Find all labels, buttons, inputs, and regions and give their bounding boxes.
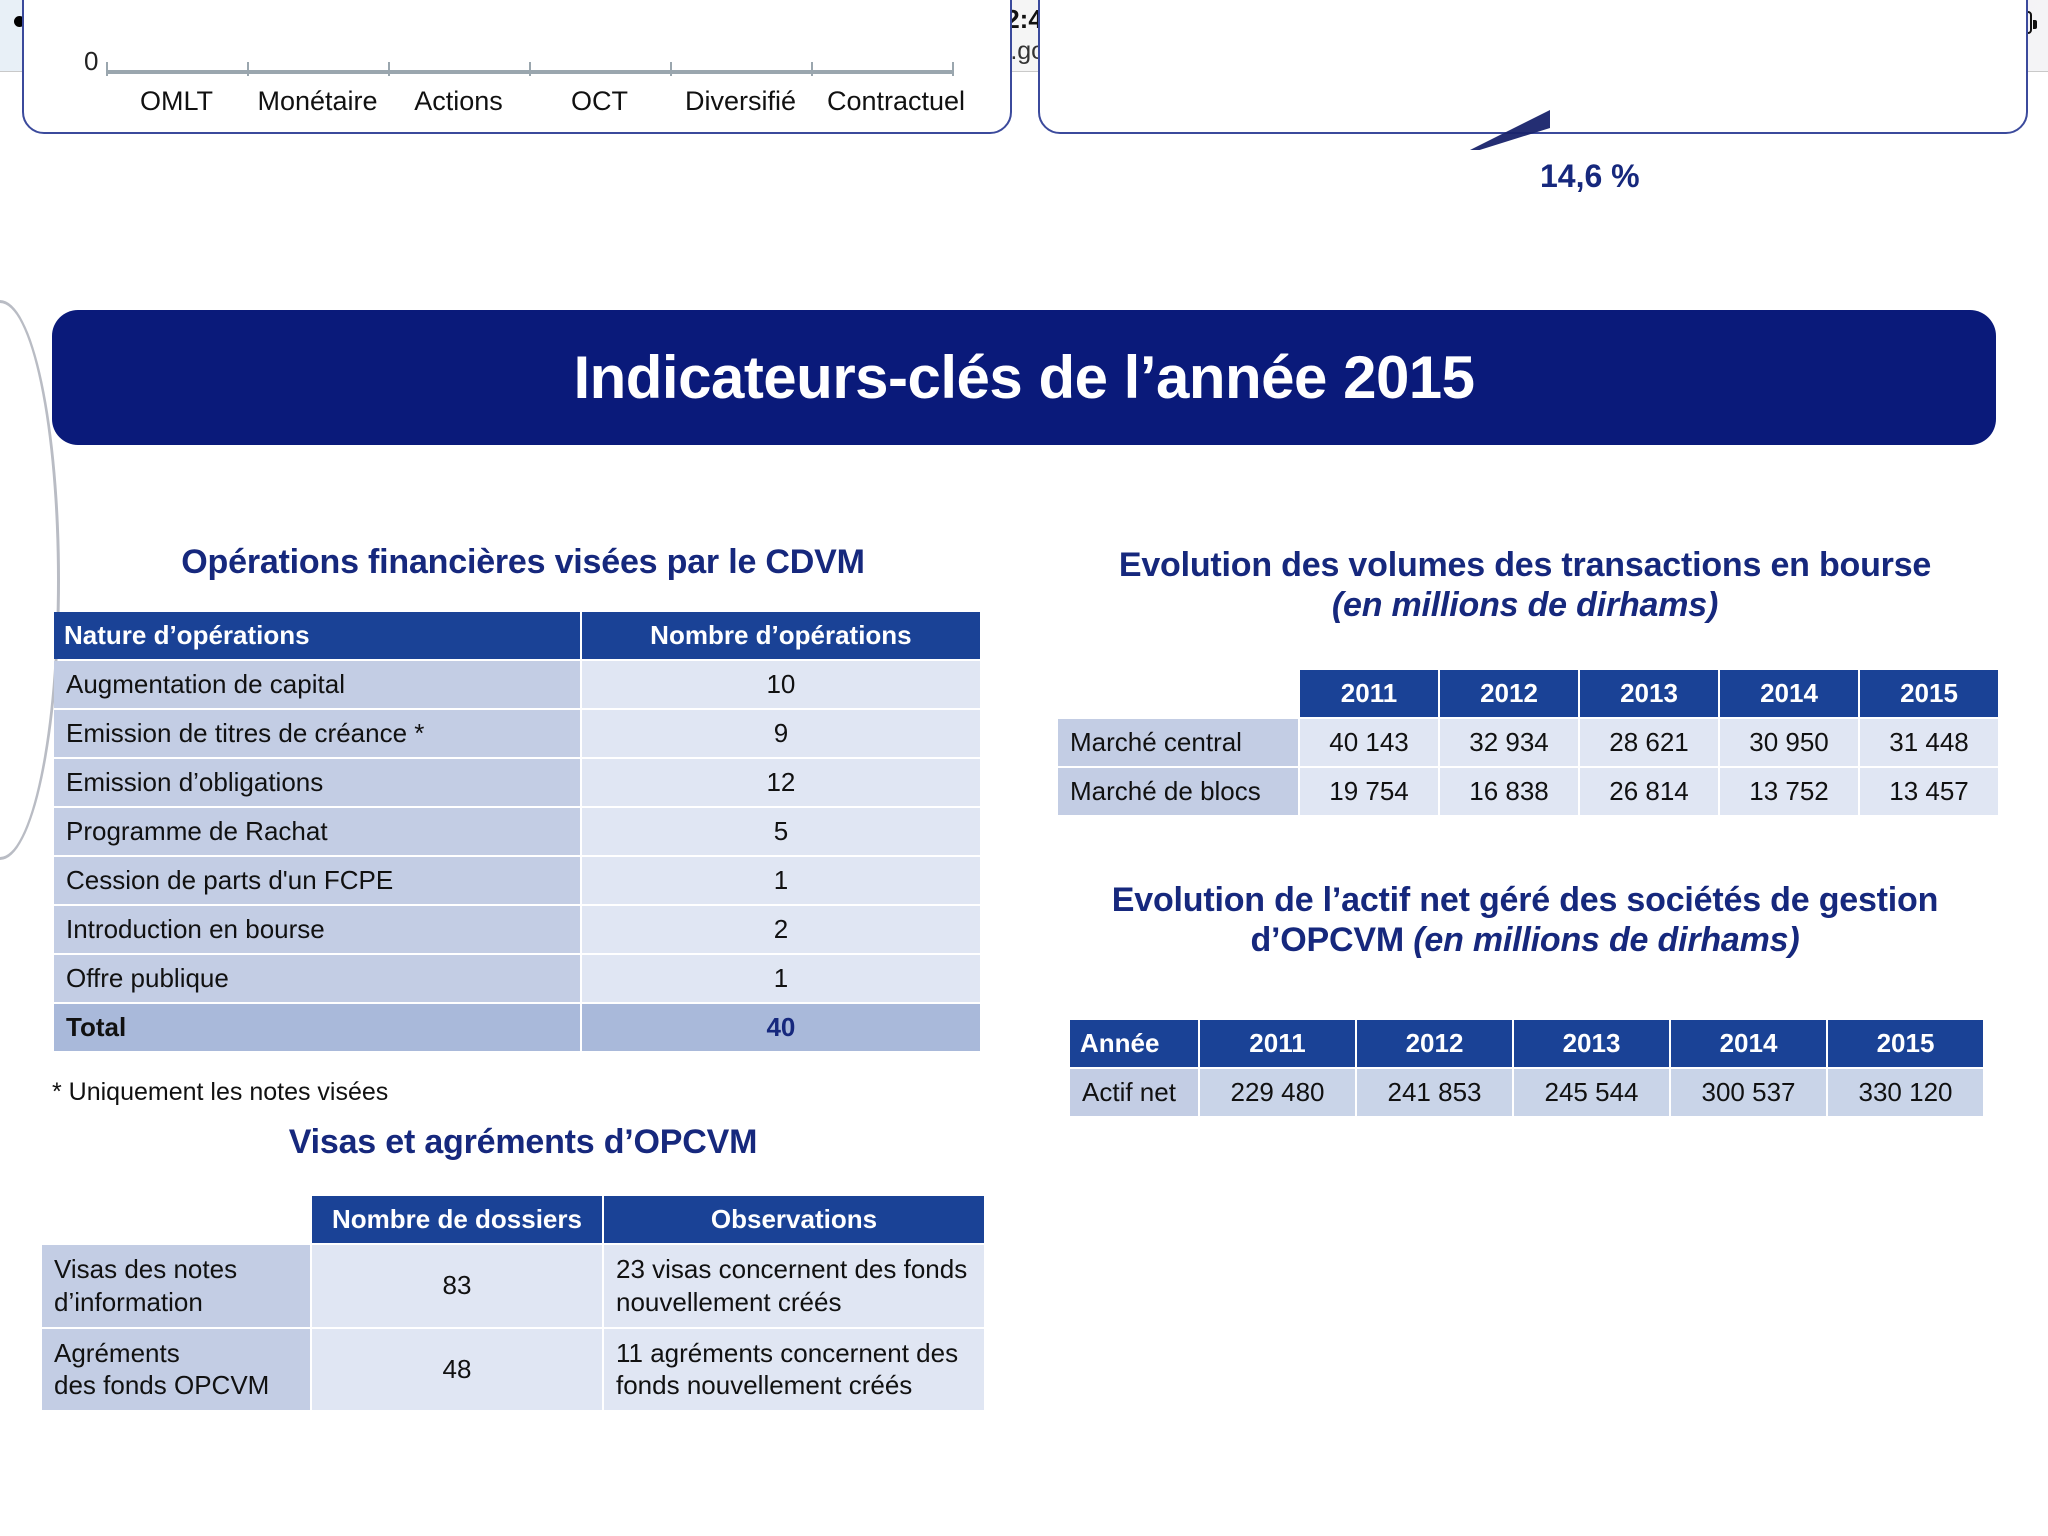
total-label: Total — [54, 1004, 580, 1051]
chart-category-label: Monétaire — [247, 86, 388, 117]
row-value: 300 537 — [1671, 1069, 1826, 1116]
row-value: 16 838 — [1440, 768, 1578, 815]
page-title-banner: Indicateurs-clés de l’année 2015 — [52, 310, 1996, 445]
actif-net-title-bold: d’OPCVM — [1250, 921, 1404, 959]
table-header-row: Nombre de dossiers Observations — [42, 1196, 984, 1243]
col-header-2014: 2014 — [1671, 1020, 1826, 1067]
actif-net-title-italic: (en millions de dirhams) — [1413, 921, 1799, 959]
table-row: Marché de blocs 19 754 16 838 26 814 13 … — [1058, 768, 1998, 815]
row-label: Offre publique — [54, 955, 580, 1002]
col-header-blank — [42, 1196, 310, 1243]
row-value: 241 853 — [1357, 1069, 1512, 1116]
row-label: Emission d’obligations — [54, 759, 580, 806]
table-row: Visas des notes d’information 83 23 visa… — [42, 1245, 984, 1327]
observation-line2: nouvellement créés — [616, 1286, 972, 1319]
col-header-nature: Nature d’opérations — [54, 612, 580, 659]
table-header-row: Année 2011 2012 2013 2014 2015 — [1070, 1020, 1983, 1067]
observation-line1: 23 visas concernent des fonds — [616, 1253, 972, 1286]
visas-table: Nombre de dossiers Observations Visas de… — [40, 1194, 986, 1412]
col-header-2013: 2013 — [1580, 670, 1718, 717]
row-value: 19 754 — [1300, 768, 1438, 815]
col-header-2011: 2011 — [1200, 1020, 1355, 1067]
row-value: 5 — [582, 808, 980, 855]
transactions-table: 2011 2012 2013 2014 2015 Marché central … — [1056, 668, 2000, 817]
col-header-count: Nombre d’opérations — [582, 612, 980, 659]
axis-tick — [952, 62, 954, 76]
total-value: 40 — [582, 1004, 980, 1051]
axis-tick — [670, 62, 672, 76]
chart-category-label: Actions — [388, 86, 529, 117]
table-row: Actif net 229 480 241 853 245 544 300 53… — [1070, 1069, 1983, 1116]
row-observation: 11 agréments concernent des fonds nouvel… — [604, 1329, 984, 1411]
col-header-2014: 2014 — [1720, 670, 1858, 717]
row-count: 48 — [312, 1329, 602, 1411]
row-value: 1 — [582, 857, 980, 904]
chart-category-label: OCT — [529, 86, 670, 117]
col-header-blank — [1058, 670, 1298, 717]
axis-tick — [811, 62, 813, 76]
axis-tick — [529, 62, 531, 76]
row-label: Marché de blocs — [1058, 768, 1298, 815]
row-value: 2 — [582, 906, 980, 953]
col-header-annee: Année — [1070, 1020, 1198, 1067]
row-value: 245 544 — [1514, 1069, 1669, 1116]
col-header-2013: 2013 — [1514, 1020, 1669, 1067]
row-label-line1: Agréments — [54, 1337, 298, 1370]
row-count: 83 — [312, 1245, 602, 1327]
row-observation: 23 visas concernent des fonds nouvelleme… — [604, 1245, 984, 1327]
actif-net-table-wrapper: Année 2011 2012 2013 2014 2015 Actif net… — [1068, 1018, 1985, 1118]
row-label: Programme de Rachat — [54, 808, 580, 855]
row-value: 9 — [582, 710, 980, 757]
table-total-row: Total 40 — [54, 1004, 980, 1051]
operations-table-wrapper: Nature d’opérations Nombre d’opérations … — [52, 610, 982, 1053]
row-value: 12 — [582, 759, 980, 806]
table-row: Emission de titres de créance * 9 — [54, 710, 980, 757]
col-header-observations: Observations — [604, 1196, 984, 1243]
row-value: 32 934 — [1440, 719, 1578, 766]
row-label: Augmentation de capital — [54, 661, 580, 708]
row-value: 330 120 — [1828, 1069, 1983, 1116]
col-header-2015: 2015 — [1860, 670, 1998, 717]
row-value: 26 814 — [1580, 768, 1718, 815]
transactions-title-line2: (en millions de dirhams) — [1332, 586, 1718, 624]
table-row: Cession de parts d'un FCPE 1 — [54, 857, 980, 904]
row-label: Introduction en bourse — [54, 906, 580, 953]
row-label: Actif net — [1070, 1069, 1198, 1116]
table-row: Offre publique 1 — [54, 955, 980, 1002]
table-row: Agréments des fonds OPCVM 48 11 agrément… — [42, 1329, 984, 1411]
row-label-line1: Visas des notes — [54, 1253, 298, 1286]
col-header-2012: 2012 — [1357, 1020, 1512, 1067]
operations-table: Nature d’opérations Nombre d’opérations … — [52, 610, 982, 1053]
pie-chart-card — [1038, 0, 2028, 134]
row-label: Cession de parts d'un FCPE — [54, 857, 580, 904]
col-header-dossiers: Nombre de dossiers — [312, 1196, 602, 1243]
chart-category-label: Diversifié — [670, 86, 811, 117]
table-row: Programme de Rachat 5 — [54, 808, 980, 855]
axis-tick — [388, 62, 390, 76]
operations-footnote: * Uniquement les notes visées — [52, 1078, 388, 1107]
chart-y-zero-label: 0 — [84, 46, 98, 77]
actif-net-section-title: Evolution de l’actif net géré des sociét… — [1050, 880, 2000, 960]
page-title: Indicateurs-clés de l’année 2015 — [573, 343, 1474, 412]
row-label-line2: des fonds OPCVM — [54, 1369, 298, 1402]
operations-section-title: Opérations financières visées par le CDV… — [48, 542, 998, 582]
transactions-table-wrapper: 2011 2012 2013 2014 2015 Marché central … — [1056, 668, 2000, 817]
transactions-section-title: Evolution des volumes des transactions e… — [1050, 545, 2000, 625]
row-value: 13 457 — [1860, 768, 1998, 815]
actif-net-title-line1: Evolution de l’actif net géré des sociét… — [1050, 880, 2000, 920]
actif-net-title-line2: d’OPCVM (en millions de dirhams) — [1050, 920, 2000, 960]
chart-category-label: Contractuel — [811, 86, 981, 117]
table-row: Marché central 40 143 32 934 28 621 30 9… — [1058, 719, 1998, 766]
row-value: 13 752 — [1720, 768, 1858, 815]
table-row: Introduction en bourse 2 — [54, 906, 980, 953]
row-label: Agréments des fonds OPCVM — [42, 1329, 310, 1411]
row-label: Marché central — [1058, 719, 1298, 766]
visas-section-title: Visas et agréments d’OPCVM — [48, 1122, 998, 1162]
table-header-row: Nature d’opérations Nombre d’opérations — [54, 612, 980, 659]
row-value: 10 — [582, 661, 980, 708]
col-header-2015: 2015 — [1828, 1020, 1983, 1067]
actif-net-table: Année 2011 2012 2013 2014 2015 Actif net… — [1068, 1018, 1985, 1118]
row-value: 28 621 — [1580, 719, 1718, 766]
col-header-2011: 2011 — [1300, 670, 1438, 717]
axis-tick — [106, 62, 108, 76]
observation-line2: fonds nouvellement créés — [616, 1369, 972, 1402]
row-label-line2: d’information — [54, 1286, 298, 1319]
transactions-title-line1: Evolution des volumes des transactions e… — [1050, 545, 2000, 585]
visas-table-wrapper: Nombre de dossiers Observations Visas de… — [40, 1194, 986, 1412]
row-value: 31 448 — [1860, 719, 1998, 766]
row-label: Visas des notes d’information — [42, 1245, 310, 1327]
axis-tick — [247, 62, 249, 76]
chart-category-label: OMLT — [106, 86, 247, 117]
bar-chart-card: 0 OMLT Monétaire Actions OCT Diversifié … — [22, 0, 1012, 134]
row-value: 40 143 — [1300, 719, 1438, 766]
row-value: 30 950 — [1720, 719, 1858, 766]
row-value: 229 480 — [1200, 1069, 1355, 1116]
pie-data-label: 14,6 % — [1540, 158, 1640, 195]
row-value: 1 — [582, 955, 980, 1002]
observation-line1: 11 agréments concernent des — [616, 1337, 972, 1370]
table-header-row: 2011 2012 2013 2014 2015 — [1058, 670, 1998, 717]
table-row: Emission d’obligations 12 — [54, 759, 980, 806]
table-row: Augmentation de capital 10 — [54, 661, 980, 708]
col-header-2012: 2012 — [1440, 670, 1578, 717]
row-label: Emission de titres de créance * — [54, 710, 580, 757]
